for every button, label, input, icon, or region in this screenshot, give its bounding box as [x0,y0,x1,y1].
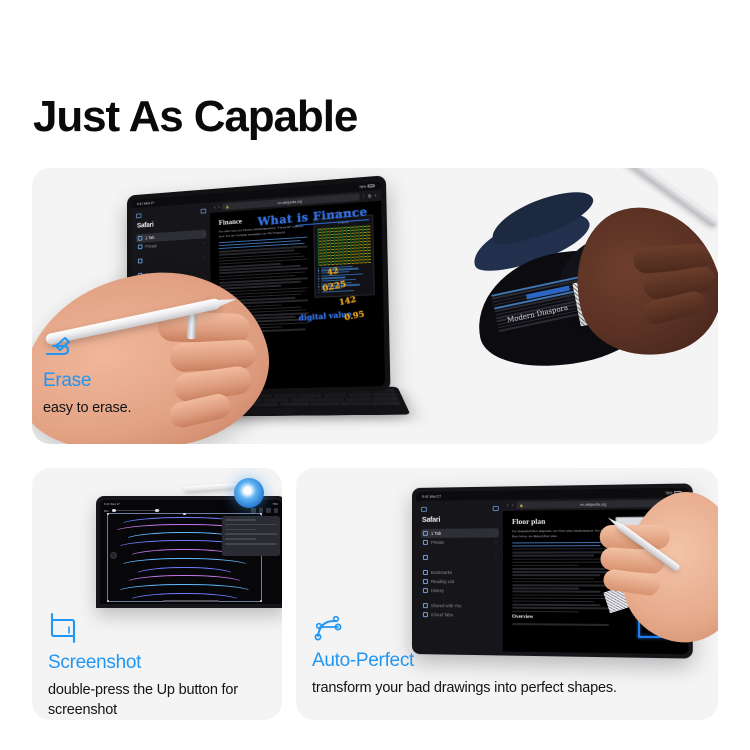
camera-shutter-button[interactable] [110,552,117,559]
sidebar-item-label: 1 Tab [145,235,154,240]
glasses-icon [423,579,428,583]
status-time: 9:41 Wed 27 [137,201,154,206]
new-tab-group-icon[interactable] [201,209,207,214]
url-text: en.wikipedia.org [278,199,302,205]
article-heading: Floor plan [512,517,609,526]
ring [187,313,197,339]
ipad-device-screenshot: 9:41 Wed 27 78% Blur [96,496,282,608]
new-tab-group-icon[interactable] [492,506,498,511]
feature-subtitle: easy to erase. [43,398,131,418]
tool-label: Blur [104,509,109,513]
eraser-icon [43,336,73,362]
feature-title: Screenshot [48,652,282,674]
sidebar-toggle-icon[interactable] [421,507,427,512]
lock-icon: 🔒 [520,503,524,507]
promo-page: Just As Capable [0,0,750,750]
status-time: 9:41 Wed 27 [422,494,441,498]
tabs-overview-icon[interactable]: ⧉ [368,193,371,198]
more-icon[interactable] [266,508,271,513]
status-battery-percent: 78% [272,502,278,506]
feature-subtitle: double-press the Up button for screensho… [48,680,282,720]
lock-icon: 🔒 [226,204,230,208]
battery-icon [367,184,374,188]
home-indicator [163,600,219,602]
article-hatnote: For templated floor diagrams, see Floor … [512,528,609,539]
feature-subtitle: transform your bad drawings into perfect… [312,678,617,698]
sidebar-item-label: History [431,588,444,593]
sidebar-item-history[interactable]: History [421,586,499,595]
address-bar[interactable]: 🔒 en.wikipedia.org [516,499,672,508]
sidebar-item-tab-group[interactable]: › [421,553,499,562]
tabs-icon [138,236,143,240]
chevron-right-icon: › [203,232,204,237]
new-tab-icon[interactable]: + [374,193,377,198]
options-popover[interactable] [222,516,280,556]
sidebar-item-reading-list[interactable]: Reading List [421,577,499,586]
url-text: en.wikipedia.org [580,502,606,506]
feature-panel-erase: 9:41 Wed 27 78% S [32,168,718,444]
status-indicators: 78% [359,184,375,189]
bezier-curve-icon [312,614,346,642]
double-press-glow-indicator [234,478,264,508]
done-icon[interactable] [274,508,279,513]
feature-panel-screenshot: 9:41 Wed 27 78% Blur [32,468,282,720]
sidebar-toolbar [421,504,499,514]
clock-icon [423,588,428,592]
feature-caption-erase: Erase easy to erase. [43,336,131,418]
sidebar-title: Safari [422,516,499,524]
bookmark-icon [423,570,428,574]
feature-caption-screenshot: Screenshot double-press the Up button fo… [48,612,282,720]
chevron-right-icon: › [495,530,496,535]
chevron-right-icon: › [203,255,204,260]
sidebar-item-tabs[interactable]: 1 Tab › [421,528,499,538]
chevron-right-icon: › [203,240,204,245]
forward-icon[interactable]: › [218,204,220,210]
private-icon [138,245,143,249]
tab-group-icon [138,259,143,263]
sidebar-item-private[interactable]: Private › [421,537,499,547]
sidebar-item-label: Private [431,540,444,545]
sidebar-title: Safari [137,218,207,230]
status-time: 9:41 Wed 27 [104,502,120,506]
forward-icon[interactable]: › [512,502,514,508]
chevron-right-icon: › [495,539,496,544]
tab-group-icon [423,555,428,559]
feature-panel-auto-perfect: 9:41 Wed 27 78% Safari [296,468,718,720]
screenshot-illustration: 9:41 Wed 27 78% Blur [88,478,282,608]
feature-title: Erase [43,370,131,392]
share-people-icon [423,603,428,607]
erase-illustration: Modern Diaspora [448,178,716,383]
sidebar-item-label: Shared with You [431,603,461,608]
ipad-screen: 9:41 Wed 27 78% Blur [100,500,282,604]
sidebar-item-bookmarks[interactable]: Bookmarks [421,568,499,577]
tabs-icon [423,531,428,535]
chevron-right-icon: › [495,555,496,560]
feature-title: Auto-Perfect [312,650,617,672]
private-icon [423,540,428,544]
back-icon[interactable]: ‹ [214,205,216,211]
sidebar-toggle-icon[interactable] [136,213,141,218]
status-battery-percent: 78% [359,184,366,189]
share-icon[interactable]: ↑ [363,194,365,199]
sidebar-item-label: Private [145,243,157,249]
sidebar-item-label: 1 Tab [431,531,441,536]
page-title: Just As Capable [33,95,357,139]
infobox-image [317,224,370,265]
screenshot-crop-icon [48,612,80,644]
back-icon[interactable]: ‹ [507,502,509,508]
feature-caption-auto-perfect: Auto-Perfect transform your bad drawings… [312,614,617,698]
sidebar-item-label: Reading List [431,579,454,584]
blur-slider[interactable] [112,510,160,511]
sidebar-item-label: Bookmarks [431,570,452,575]
